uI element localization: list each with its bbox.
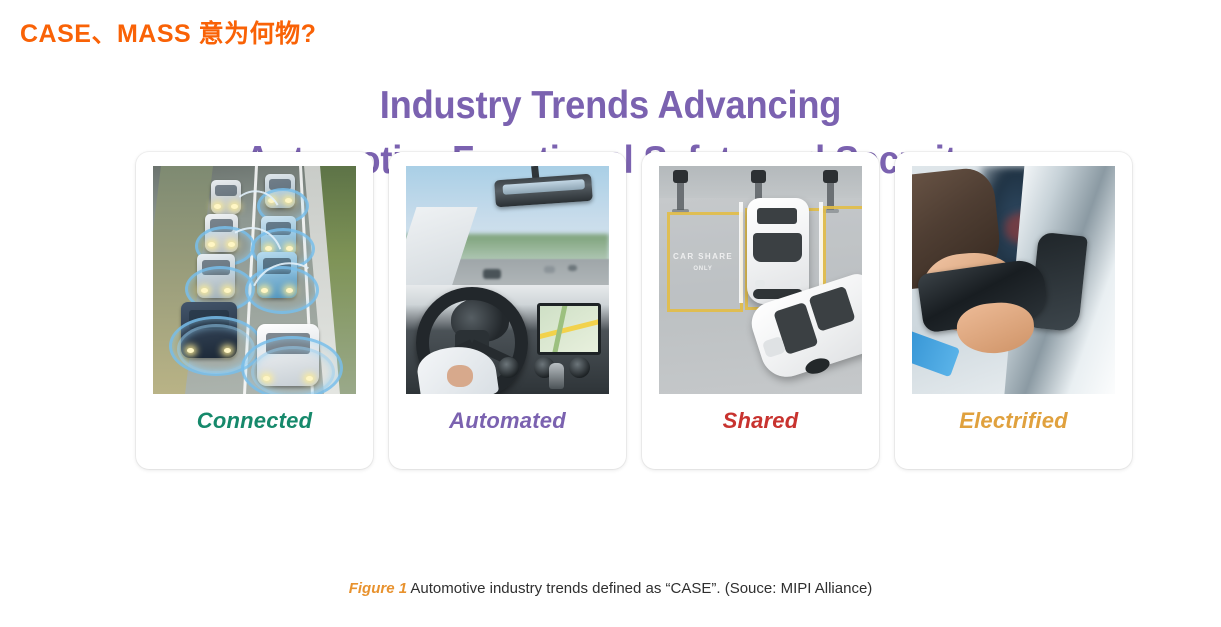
shared-parking-image: CAR SHARE ONLY <box>659 166 862 394</box>
trend-card-connected[interactable]: Connected <box>136 152 373 469</box>
trend-card-row: Connected <box>136 152 1132 469</box>
figure-heading-line-1: Industry Trends Advancing <box>43 78 1179 133</box>
pavement-carshare-text: CAR SHARE <box>673 252 733 263</box>
trend-card-label-electrified: Electrified <box>959 408 1068 434</box>
automated-interior-image <box>406 166 609 394</box>
connected-highway-image <box>153 166 356 394</box>
figure-caption-number: Figure 1 <box>349 580 407 597</box>
slide-page: CASE、MASS 意为何物? Industry Trends Advancin… <box>0 0 1221 627</box>
trend-card-label-automated: Automated <box>449 408 566 434</box>
figure-caption: Figure 1 Automotive industry trends defi… <box>0 580 1221 597</box>
trend-card-electrified[interactable]: Electrified <box>895 152 1132 469</box>
page-title: CASE、MASS 意为何物? <box>20 14 316 50</box>
trend-card-shared[interactable]: CAR SHARE ONLY Shared <box>642 152 879 469</box>
trend-card-label-shared: Shared <box>723 408 799 434</box>
electrified-charging-image <box>912 166 1115 394</box>
trend-card-automated[interactable]: Automated <box>389 152 626 469</box>
figure-caption-text: Automotive industry trends defined as “C… <box>407 580 872 597</box>
trend-card-label-connected: Connected <box>197 408 312 434</box>
pavement-carshare-subtext: ONLY <box>673 265 733 273</box>
